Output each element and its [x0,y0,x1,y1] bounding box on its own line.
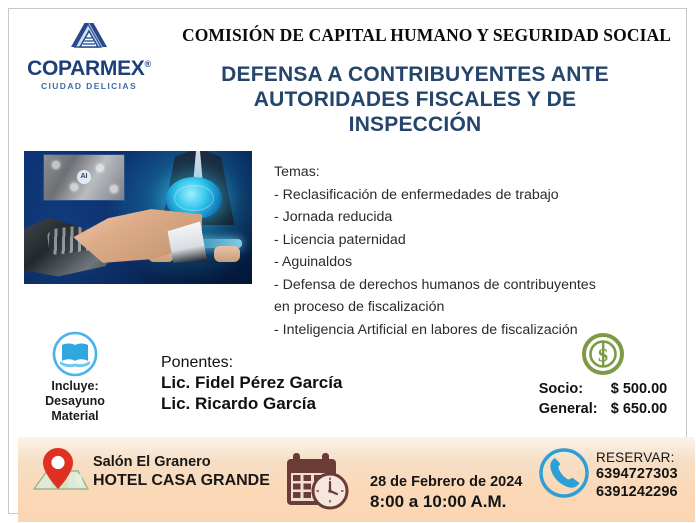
page-title: DEFENSA A CONTRIBUYENTES ANTE AUTORIDADE… [185,62,645,137]
commission-title: COMISIÓN DE CAPITAL HUMANO Y SEGURIDAD S… [159,25,694,46]
reserve-phone[interactable]: 6391242296 [596,484,678,502]
coparmex-hexagon-logo-icon [66,21,112,55]
price-row: Socio:$ 500.00 [514,379,692,399]
flyer-page: COPARMEX® CIUDAD DELICIAS COMISIÓN DE CA… [0,0,696,523]
calendar-clock-icon [285,449,351,511]
businessman-hand-right [214,246,240,262]
list-item-continuation: en proceso de fiscalización [274,296,684,319]
ai-handshake-photo: AI [24,151,252,284]
brand-chapter: CIUDAD DELICIAS [25,81,153,91]
event-time: 8:00 a 10:00 A.M. [370,491,522,512]
reserve-label: RESERVAR: [596,449,678,466]
event-date: 28 de Febrero de 2024 [370,473,522,491]
venue-hotel: HOTEL CASA GRANDE [93,471,270,490]
map-pin-icon [31,445,89,507]
price-label: General: [539,399,611,419]
footer-bar: Salón El Granero HOTEL CASA GRANDE [18,437,695,522]
topics-heading: Temas: [274,161,684,184]
includes-item: Desayuno [21,394,129,409]
price-label: Socio: [539,379,611,399]
flyer-frame: COPARMEX® CIUDAD DELICIAS COMISIÓN DE CA… [8,8,687,514]
list-item: - Reclasificación de enfermedades de tra… [274,184,684,207]
includes-item: Material [21,409,129,424]
dollar-coin-icon: S [582,333,624,375]
reserve-phone[interactable]: 6394727303 [596,466,678,484]
list-item: - Licencia paternidad [274,229,684,252]
venue-room: Salón El Granero [93,453,270,471]
includes-block: Incluye: Desayuno Material [21,331,129,424]
speakers-block: Ponentes: Lic. Fidel Pérez García Lic. R… [161,353,342,414]
list-item: - Aguinaldos [274,251,684,274]
price-row: General:$ 650.00 [514,399,692,419]
venue-block: Salón El Granero HOTEL CASA GRANDE [93,453,270,490]
phone-call-icon [538,447,590,499]
datetime-block: 28 de Febrero de 2024 8:00 a 10:00 A.M. [370,473,522,512]
coparmex-logo-block: COPARMEX® CIUDAD DELICIAS [25,21,153,99]
price-value: $ 500.00 [611,379,667,399]
list-item: - Defensa de derechos humanos de contrib… [274,274,684,297]
reservation-block[interactable]: RESERVAR: 6394727303 6391242296 [596,449,678,501]
speaker-name: Lic. Fidel Pérez García [161,372,342,393]
ai-network-inset: AI [44,155,124,200]
includes-label: Incluye: [21,379,129,394]
ai-badge-label: AI [77,170,91,184]
speaker-name: Lic. Ricardo García [161,393,342,414]
topics-list: Temas: - Reclasificación de enfermedades… [274,161,684,341]
speakers-label: Ponentes: [161,353,342,372]
registered-mark: ® [145,59,151,69]
open-book-icon [52,331,98,377]
brand-name: COPARMEX® [25,58,153,79]
prices-block: S Socio:$ 500.00 General:$ 650.00 [514,333,692,419]
list-item: - Jornada reducida [274,206,684,229]
price-value: $ 650.00 [611,399,667,419]
